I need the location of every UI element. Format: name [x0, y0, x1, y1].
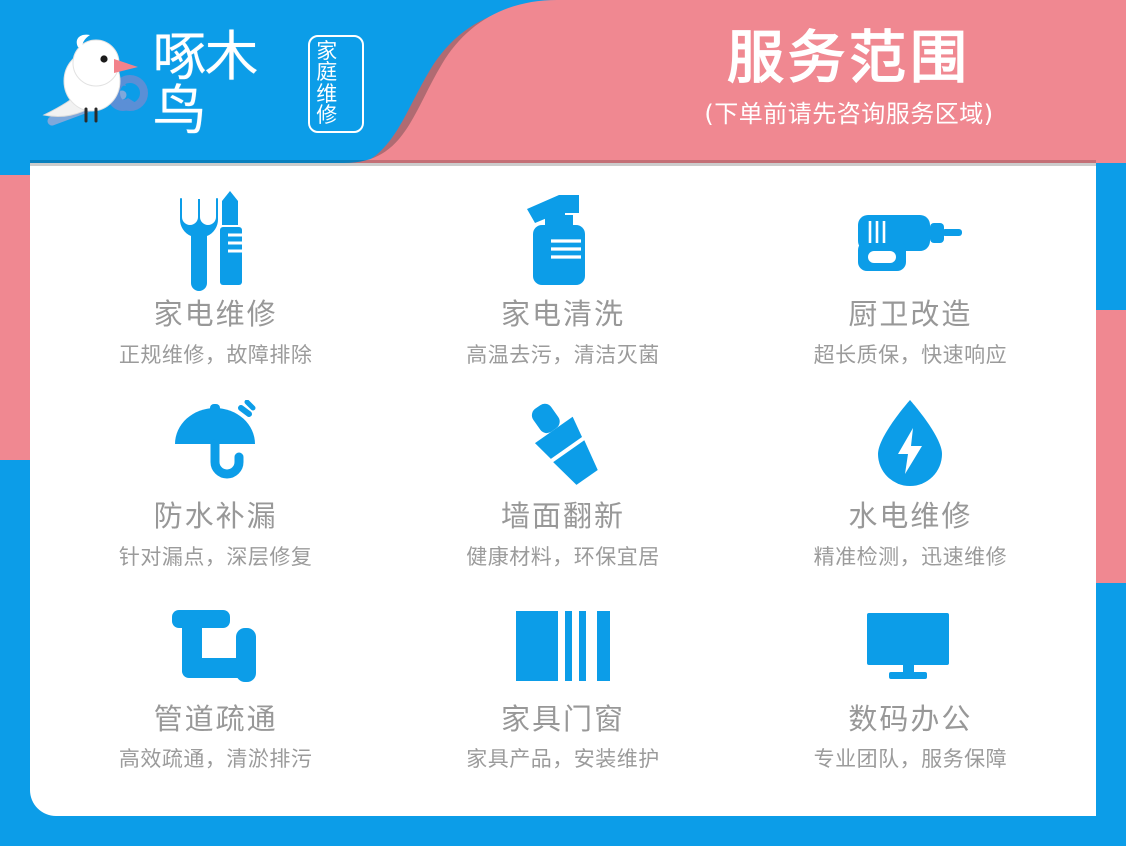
service-title: 管道疏通 [154, 702, 278, 737]
woodpecker-bird-icon [34, 29, 146, 139]
spray-bottle-icon [498, 187, 628, 295]
poster-header: 啄木鸟 家庭 维修 服务范围 (下单前请先咨询服务区域) [0, 0, 1126, 163]
service-title: 厨卫改造 [848, 297, 972, 332]
service-item-plumbing-electrical[interactable]: 水电维修 精准检测，迅速维修 [737, 383, 1084, 585]
service-title: 家电清洗 [501, 297, 625, 332]
services-grid: 家电维修 正规维修，故障排除 [30, 163, 1096, 816]
monitor-icon [845, 592, 975, 700]
service-item-digital-office[interactable]: 数码办公 专业团队，服务保障 [737, 586, 1084, 788]
poster-root: 啄木鸟 家庭 维修 服务范围 (下单前请先咨询服务区域) [0, 0, 1126, 846]
service-desc: 家具产品，安装维护 [466, 743, 660, 773]
service-item-pipe-unclogging[interactable]: 管道疏通 高效疏通，清淤排污 [42, 586, 389, 788]
right-edge-accent-bar [1096, 310, 1126, 583]
service-desc: 专业团队，服务保障 [814, 743, 1008, 773]
service-desc: 正规维修，故障排除 [119, 339, 313, 369]
services-card: 家电维修 正规维修，故障排除 [30, 163, 1096, 816]
power-drill-icon [845, 187, 975, 295]
service-item-kitchen-bath-remodel[interactable]: 厨卫改造 超长质保，快速响应 [737, 181, 1084, 383]
service-desc: 精准检测，迅速维修 [814, 541, 1008, 571]
left-edge-accent-bar [0, 175, 30, 460]
service-title: 水电维修 [848, 499, 972, 534]
service-title: 数码办公 [848, 702, 972, 737]
service-item-appliance-cleaning[interactable]: 家电清洗 高温去污，清洁灭菌 [389, 181, 736, 383]
service-title: 墙面翻新 [501, 499, 625, 534]
service-item-wall-renovation[interactable]: 墙面翻新 健康材料，环保宜居 [389, 383, 736, 585]
header-title-block: 服务范围 (下单前请先咨询服务区域) [634, 26, 1064, 129]
page-subtitle: (下单前请先咨询服务区域) [634, 94, 1064, 129]
window-door-icon [498, 592, 628, 700]
service-title: 家电维修 [154, 297, 278, 332]
brand-badge-line2: 维修 [316, 84, 356, 127]
service-item-waterproofing[interactable]: 防水补漏 针对漏点，深层修复 [42, 383, 389, 585]
umbrella-icon [151, 389, 281, 497]
brand-logo: 啄木鸟 家庭 维修 [34, 24, 364, 144]
service-item-appliance-repair[interactable]: 家电维修 正规维修，故障排除 [42, 181, 389, 383]
service-desc: 超长质保，快速响应 [814, 339, 1008, 369]
service-desc: 针对漏点，深层修复 [119, 541, 313, 571]
service-desc: 高效疏通，清淤排污 [119, 743, 313, 773]
pipe-icon [151, 592, 281, 700]
service-desc: 健康材料，环保宜居 [466, 541, 660, 571]
service-title: 防水补漏 [154, 499, 278, 534]
water-drop-bolt-icon [845, 389, 975, 497]
paint-brush-icon [498, 389, 628, 497]
wrench-screwdriver-icon [151, 187, 281, 295]
brand-wordmark: 啄木鸟 家庭 维修 [152, 30, 364, 138]
brand-name-text: 啄木鸟 [152, 30, 300, 138]
brand-badge-line1: 家庭 [316, 41, 356, 84]
service-desc: 高温去污，清洁灭菌 [466, 339, 660, 369]
page-title: 服务范围 [634, 26, 1064, 92]
service-title: 家具门窗 [501, 702, 625, 737]
service-item-furniture-doors-windows[interactable]: 家具门窗 家具产品，安装维护 [389, 586, 736, 788]
brand-badge: 家庭 维修 [308, 35, 364, 134]
